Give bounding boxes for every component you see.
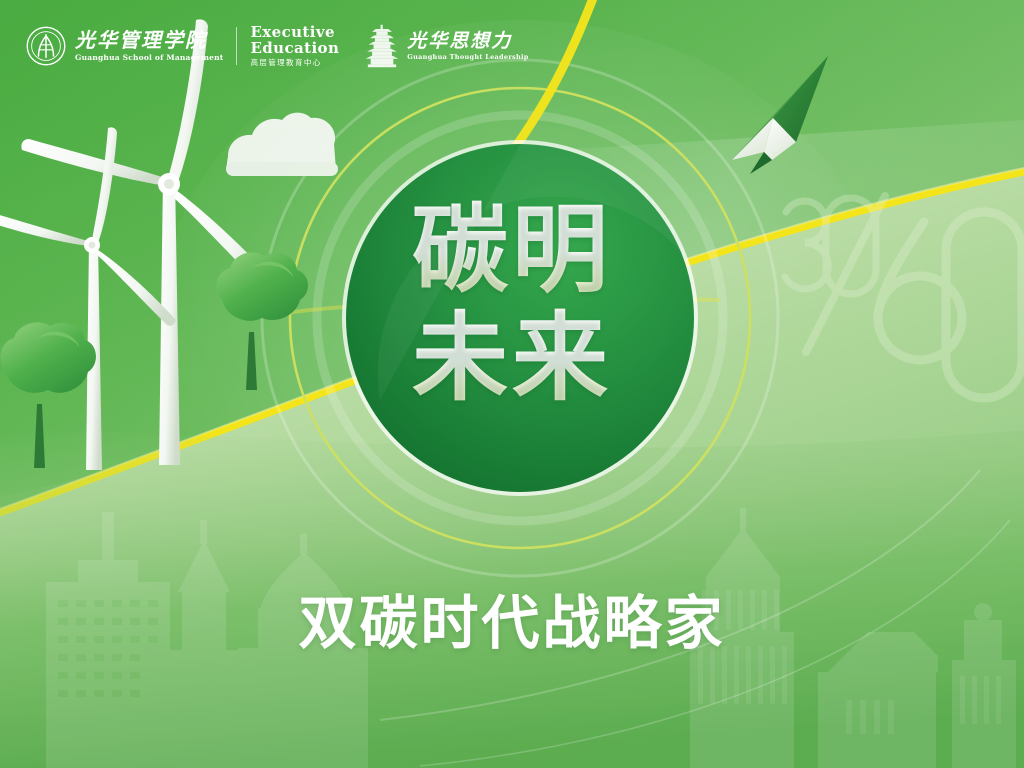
- logo-executive-education[interactable]: Executive Education 高层管理教育中心: [250, 24, 339, 68]
- exec-edu-cn: 高层管理教育中心: [250, 58, 339, 68]
- poster-canvas: 光华管理学院 Guanghua School of Management Exe…: [0, 0, 1024, 768]
- logo-guanghua-cn: 光华管理学院: [75, 30, 223, 51]
- badge-circle: [342, 140, 698, 496]
- pagoda-icon: [365, 23, 399, 69]
- logo-guanghua-school[interactable]: 光华管理学院 Guanghua School of Management: [26, 26, 223, 66]
- thought-leadership-en: Guanghua Thought Leadership: [407, 53, 528, 62]
- logo-divider: [236, 27, 237, 65]
- logo-guanghua-en: Guanghua School of Management: [75, 53, 223, 63]
- header-logo-bar: 光华管理学院 Guanghua School of Management Exe…: [26, 18, 529, 74]
- peking-university-seal-icon: [26, 26, 66, 66]
- poster-subtitle: 双碳时代战略家: [0, 588, 1024, 658]
- thought-leadership-cn: 光华思想力: [407, 31, 528, 51]
- exec-edu-line1: Executive: [250, 24, 339, 40]
- logo-thought-leadership[interactable]: 光华思想力 Guanghua Thought Leadership: [365, 23, 528, 69]
- exec-edu-line2: Education: [250, 40, 339, 56]
